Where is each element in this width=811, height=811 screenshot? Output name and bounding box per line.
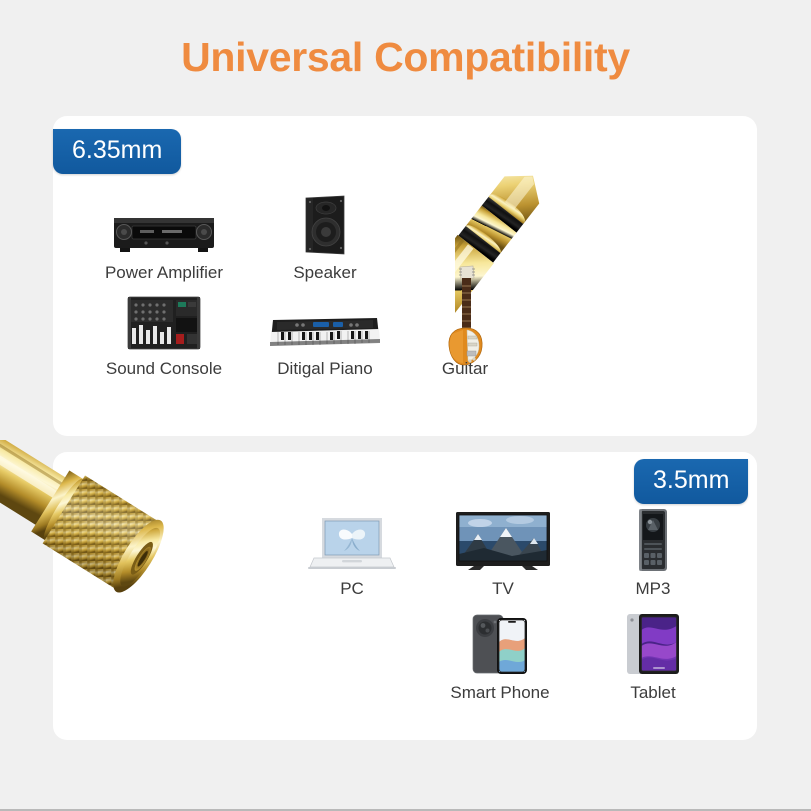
product-compatibility-graphic: Universal Compatibility xyxy=(0,0,811,811)
device-tablet: Tablet xyxy=(583,612,723,703)
device-sound-console: Sound Console xyxy=(94,288,234,379)
device-speaker: Speaker xyxy=(255,192,395,283)
device-pc: PC xyxy=(282,508,422,599)
device-label: Power Amplifier xyxy=(94,263,234,283)
badge-3-5mm: 3.5mm xyxy=(634,459,748,504)
device-label: Sound Console xyxy=(94,359,234,379)
speaker-icon xyxy=(255,192,395,256)
mixer-icon xyxy=(94,288,234,352)
device-label: MP3 xyxy=(583,579,723,599)
badge-6-35mm: 6.35mm xyxy=(53,129,181,174)
device-smart-phone: Smart Phone xyxy=(430,612,570,703)
device-tv: TV xyxy=(433,508,573,599)
device-label: Tablet xyxy=(583,683,723,703)
guitar-icon xyxy=(395,288,535,352)
device-label: Guitar xyxy=(395,359,535,379)
device-mp3: MP3 xyxy=(583,508,723,599)
laptop-icon xyxy=(282,508,422,572)
tv-icon xyxy=(433,508,573,572)
smartphone-icon xyxy=(430,612,570,676)
amplifier-icon xyxy=(94,192,234,256)
device-label: Speaker xyxy=(255,263,395,283)
device-guitar: Guitar xyxy=(395,288,535,379)
keyboard-icon xyxy=(255,288,395,352)
device-power-amplifier: Power Amplifier xyxy=(94,192,234,283)
tablet-icon xyxy=(583,612,723,676)
device-label: PC xyxy=(282,579,422,599)
page-title: Universal Compatibility xyxy=(0,34,811,81)
device-label: TV xyxy=(433,579,573,599)
device-label: Smart Phone xyxy=(430,683,570,703)
device-label: Ditigal Piano xyxy=(255,359,395,379)
mp3-player-icon xyxy=(583,508,723,572)
device-digital-piano: Ditigal Piano xyxy=(255,288,395,379)
